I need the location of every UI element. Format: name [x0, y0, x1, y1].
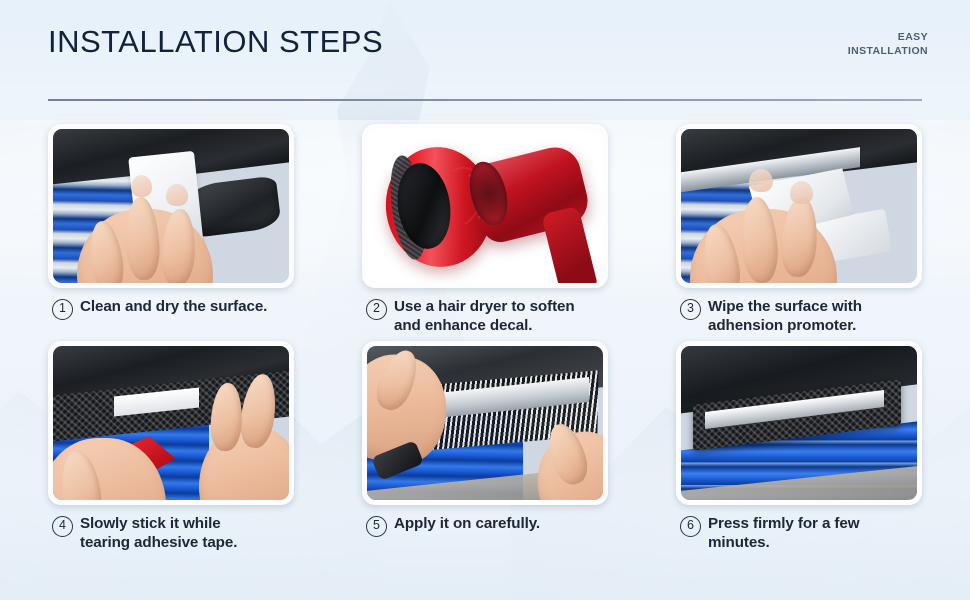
header-divider: [48, 99, 922, 101]
step-card-1: 1 Clean and dry the surface.: [48, 124, 294, 335]
step-card-5: 5 Apply it on carefully.: [362, 341, 608, 552]
step-6-number: 6: [680, 516, 701, 537]
step-1-text-line-1: Clean and dry the surface.: [80, 298, 267, 315]
page-header: INSTALLATION STEPS EASY INSTALLATION: [0, 0, 970, 112]
step-1-number: 1: [52, 299, 73, 320]
step-card-2: 2 Use a hair dryer to soften and enhance…: [362, 124, 608, 335]
steps-grid: 1 Clean and dry the surface.: [48, 124, 922, 552]
step-2-number: 2: [366, 299, 387, 320]
step-5-number: 5: [366, 516, 387, 537]
step-4-number: 4: [52, 516, 73, 537]
step-6-photo: [681, 346, 917, 500]
tagline: EASY INSTALLATION: [808, 31, 928, 58]
installation-steps-page: INSTALLATION STEPS EASY INSTALLATION: [0, 0, 970, 600]
page-title: INSTALLATION STEPS: [48, 24, 383, 60]
step-3-caption: 3 Wipe the surface with adhension promot…: [676, 297, 922, 335]
step-6-text-line-1: Press firmly for a few: [708, 515, 859, 532]
step-2-caption: 2 Use a hair dryer to soften and enhance…: [362, 297, 608, 335]
step-2-photo-frame: [362, 124, 608, 288]
step-2-text-line-2: and enhance decal.: [394, 316, 575, 335]
step-6-caption: 6 Press firmly for a few minutes.: [676, 514, 922, 552]
step-1-caption: 1 Clean and dry the surface.: [48, 297, 294, 320]
step-4-text-line-1: Slowly stick it while: [80, 515, 221, 532]
step-3-text-line-2: adhension promoter.: [708, 316, 862, 335]
tagline-line-1: EASY: [898, 31, 928, 43]
fingernail: [131, 175, 152, 197]
step-card-6: 6 Press firmly for a few minutes.: [676, 341, 922, 552]
step-6-text: Press firmly for a few minutes.: [708, 514, 859, 552]
step-6-photo-frame: [676, 341, 922, 505]
step-4-photo: [53, 346, 289, 500]
step-2-text-line-1: Use a hair dryer to soften: [394, 298, 575, 315]
fingernail: [749, 169, 773, 192]
step-2-photo: [367, 129, 603, 283]
step-3-text-line-1: Wipe the surface with: [708, 298, 862, 315]
step-4-photo-frame: [48, 341, 294, 505]
step-5-caption: 5 Apply it on carefully.: [362, 514, 608, 537]
step-1-photo-frame: [48, 124, 294, 288]
fingernail: [790, 181, 814, 204]
step-4-text-line-2: tearing adhesive tape.: [80, 533, 237, 552]
step-3-photo-frame: [676, 124, 922, 288]
step-5-text: Apply it on carefully.: [394, 514, 540, 533]
step-3-text: Wipe the surface with adhension promoter…: [708, 297, 862, 335]
step-5-text-line-1: Apply it on carefully.: [394, 515, 540, 532]
step-1-photo: [53, 129, 289, 283]
step-3-photo: [681, 129, 917, 283]
step-5-photo-frame: [362, 341, 608, 505]
tagline-line-2: INSTALLATION: [808, 45, 928, 59]
step-card-4: 4 Slowly stick it while tearing adhesive…: [48, 341, 294, 552]
step-1-text: Clean and dry the surface.: [80, 297, 267, 316]
step-card-3: 3 Wipe the surface with adhension promot…: [676, 124, 922, 335]
step-4-text: Slowly stick it while tearing adhesive t…: [80, 514, 237, 552]
step-6-text-line-2: minutes.: [708, 533, 859, 552]
step-3-number: 3: [680, 299, 701, 320]
fingernail: [166, 184, 187, 206]
step-2-text: Use a hair dryer to soften and enhance d…: [394, 297, 575, 335]
step-5-photo: [367, 346, 603, 500]
step-4-caption: 4 Slowly stick it while tearing adhesive…: [48, 514, 294, 552]
